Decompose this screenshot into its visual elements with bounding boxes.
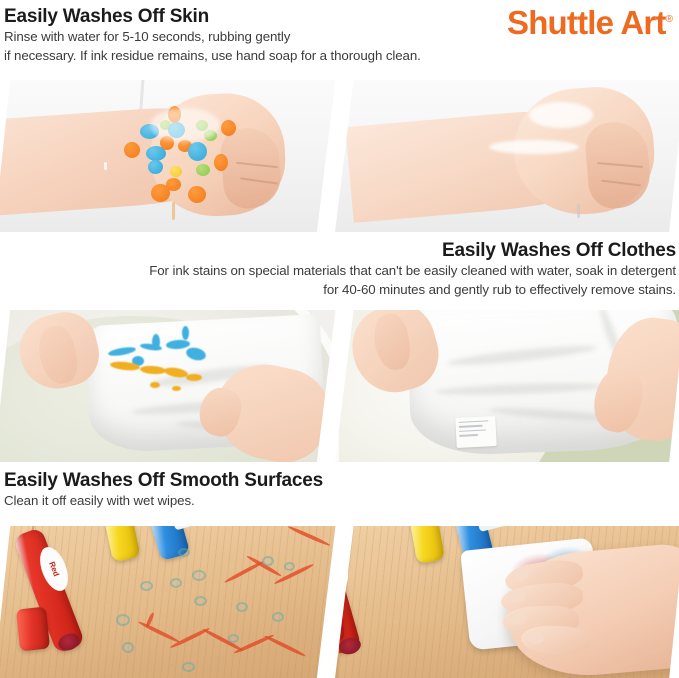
shuttle-art-logo: Shuttle Art® [507, 2, 673, 41]
section-skin-text: Easily Washes Off Skin Rinse with water … [4, 6, 421, 65]
ink-spot-teal [170, 578, 182, 588]
ink-spot-teal [182, 662, 195, 672]
ink-spot-teal [140, 581, 153, 591]
marker-cap-red [16, 607, 50, 652]
section-clothes-body-line-2: for 40-60 minutes and gently rub to effe… [149, 281, 676, 300]
ink-stain-yellow [172, 386, 181, 391]
care-label-tag [455, 416, 497, 448]
wet-sheen [529, 102, 593, 128]
care-label-line [459, 425, 484, 428]
ink-stain-yellow [186, 374, 202, 381]
photo-clean-washed-hand [339, 80, 679, 232]
ink-spot-teal [228, 634, 239, 643]
section-skin-body-line-2: if necessary. If ink residue remains, us… [4, 47, 421, 66]
ink-dot-blue [148, 160, 163, 174]
water-drip [577, 204, 580, 218]
ink-stain-blue [152, 334, 160, 350]
ink-stain-blue [182, 326, 189, 340]
product-feature-infographic: Shuttle Art® Easily Washes Off Skin Rins… [0, 0, 679, 678]
photo-row-clothes [0, 310, 679, 462]
care-label-line [458, 420, 488, 423]
ink-stain-yellow [150, 382, 160, 388]
water-drip [172, 202, 175, 220]
ink-dot-blue [188, 142, 207, 161]
ink-spot-teal [262, 556, 274, 566]
ink-spot-teal [194, 596, 207, 606]
ink-dot-orange [214, 154, 228, 171]
ink-spot-teal [236, 602, 248, 612]
ink-dot-green [196, 164, 210, 176]
photo-clean-white-shirt [339, 310, 679, 462]
ink-spot-teal [116, 614, 130, 626]
photo-row-smooth-surfaces: Red [0, 526, 679, 678]
section-skin-heading: Easily Washes Off Skin [4, 6, 421, 28]
care-label-line [459, 434, 478, 436]
ink-dot-orange [151, 184, 170, 202]
care-label-line [459, 429, 486, 432]
photo-marker-scribbles-on-wood: Red [0, 526, 340, 678]
brand-name: Shuttle Art [507, 4, 666, 41]
section-smooth-surfaces-text: Easily Washes Off Smooth Surfaces Clean … [4, 470, 323, 511]
ink-dot-blue [146, 146, 166, 161]
photo-wiping-wood-with-wet-wipe: Red [339, 526, 679, 678]
ink-spot-teal [192, 570, 206, 581]
section-skin-body-line-1: Rinse with water for 5-10 seconds, rubbi… [4, 28, 421, 47]
ink-spot-teal [284, 562, 295, 571]
ink-spot-teal [122, 642, 134, 653]
section-clothes-text: Easily Washes Off Clothes For ink stains… [149, 240, 676, 299]
registered-trademark-icon: ® [666, 14, 673, 25]
photo-stained-shirt-in-basin [0, 310, 340, 462]
water-droplet [104, 162, 107, 170]
red-marker-label-text: Red [48, 561, 61, 578]
section-smooth-surfaces-body-line-1: Clean it off easily with wet wipes. [4, 492, 323, 511]
section-clothes-heading: Easily Washes Off Clothes [149, 240, 676, 262]
fingernail [509, 612, 527, 625]
ink-spot-teal [272, 612, 284, 622]
ink-spot-teal [178, 548, 190, 557]
ink-dot-orange [188, 186, 206, 203]
ink-dot-orange [221, 120, 236, 136]
section-clothes-body-line-1: For ink stains on special materials that… [149, 262, 676, 281]
photo-row-skin [0, 80, 679, 232]
wet-sheen [489, 140, 579, 154]
section-smooth-surfaces-heading: Easily Washes Off Smooth Surfaces [4, 470, 323, 492]
ink-dot-orange [124, 142, 140, 158]
photo-hand-with-ink-dots [0, 80, 340, 232]
skin-sheen [150, 108, 220, 142]
ink-dot-yellow [170, 166, 182, 177]
